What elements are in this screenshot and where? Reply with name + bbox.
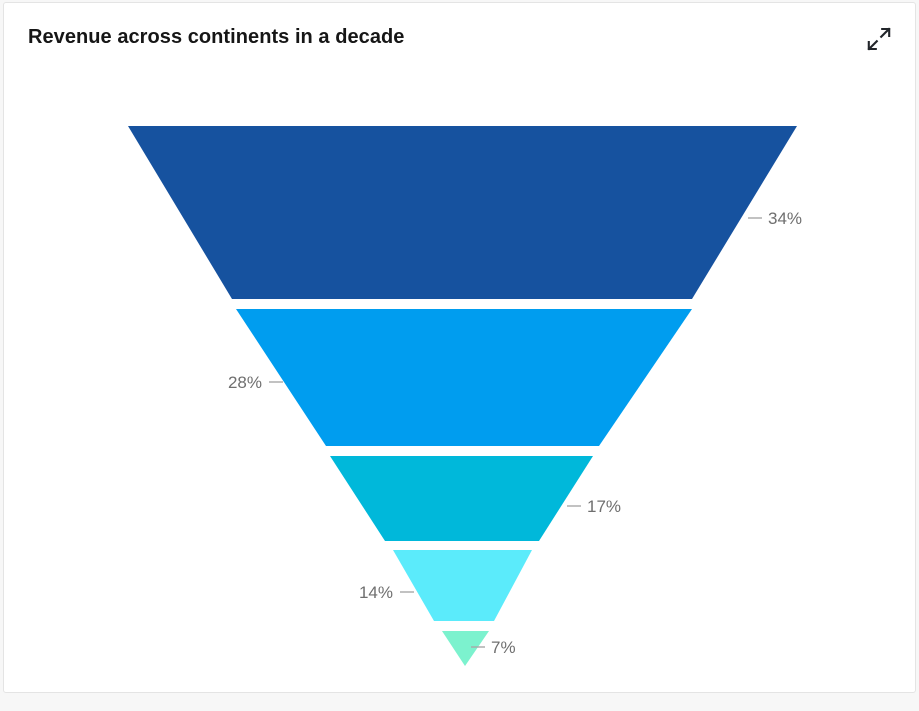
funnel-segment-1-label: 34% xyxy=(768,209,802,228)
funnel-segment-4[interactable]: 14% xyxy=(359,550,532,621)
funnel-segment-4-shape[interactable] xyxy=(393,550,532,621)
funnel-segment-5-label: 7% xyxy=(491,638,516,657)
funnel-segment-2[interactable]: 28% xyxy=(228,309,692,446)
funnel-segment-2-shape[interactable] xyxy=(236,309,692,446)
funnel-segment-3-shape[interactable] xyxy=(330,456,593,541)
funnel-segment-3[interactable]: 17% xyxy=(330,456,621,541)
funnel-segment-5[interactable]: 7% xyxy=(442,631,516,666)
funnel-chart: 34% 28% 17% 14% xyxy=(4,63,915,692)
funnel-segment-1-shape[interactable] xyxy=(128,126,797,299)
expand-icon[interactable] xyxy=(863,23,895,55)
screen-root: Revenue across continents in a decade xyxy=(0,0,919,711)
page-title: Revenue across continents in a decade xyxy=(28,26,404,49)
funnel-segment-4-label: 14% xyxy=(359,583,393,602)
funnel-segment-1[interactable]: 34% xyxy=(128,126,802,299)
funnel-segment-2-label: 28% xyxy=(228,373,262,392)
funnel-segment-5-shape[interactable] xyxy=(442,631,489,666)
funnel-chart-card: Revenue across continents in a decade xyxy=(3,2,916,693)
expand-diagonal-arrows-icon xyxy=(866,26,892,52)
funnel-segment-3-label: 17% xyxy=(587,497,621,516)
funnel-svg: 34% 28% 17% 14% xyxy=(4,63,915,692)
